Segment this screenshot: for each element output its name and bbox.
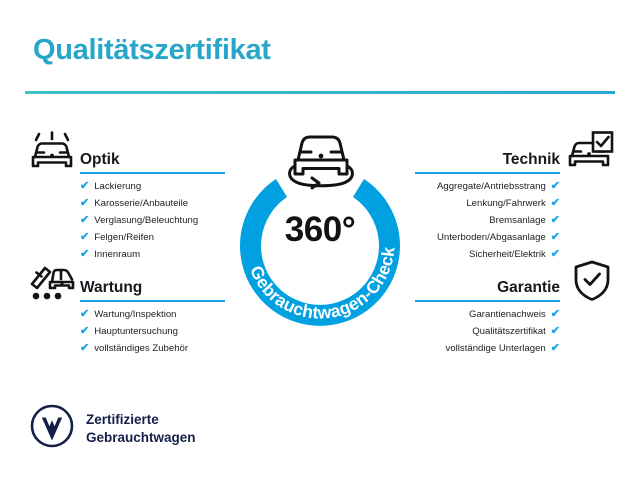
list-item-label: Karosserie/Anbauteile	[94, 199, 188, 209]
list-item-label: Aggregate/Antriebsstrang	[437, 182, 546, 192]
check-icon: ✔	[551, 198, 560, 209]
list-item-label: vollständige Unterlagen	[446, 344, 546, 354]
section-optik: Optik ✔ Lackierung ✔ Karosserie/Anbautei…	[80, 144, 225, 266]
check-icon: ✔	[551, 181, 560, 192]
list-item: vollständige Unterlagen ✔	[415, 343, 560, 354]
list-item-label: vollständiges Zubehör	[94, 344, 188, 354]
car-checkbox-icon	[566, 131, 614, 178]
check-icon: ✔	[80, 181, 89, 192]
list-item-label: Felgen/Reifen	[94, 233, 154, 243]
check-icon: ✔	[80, 232, 89, 243]
section-optik-items: ✔ Lackierung ✔ Karosserie/Anbauteile ✔ V…	[80, 181, 225, 260]
section-wartung: Wartung ✔ Wartung/Inspektion ✔ Hauptunte…	[80, 272, 225, 360]
list-item-label: Sicherheit/Elektrik	[469, 250, 546, 260]
page-title: Qualitätszertifikat	[33, 34, 271, 67]
car-rotate-360-icon	[282, 122, 360, 201]
list-item-label: Garantienachweis	[469, 310, 546, 320]
list-item-label: Innenraum	[94, 250, 140, 260]
footer-logo-line1: Zertifizierte	[86, 412, 159, 427]
list-item: Garantienachweis ✔	[415, 309, 560, 320]
check-icon: ✔	[80, 198, 89, 209]
section-optik-title: Optik	[80, 151, 120, 169]
list-item-label: Lenkung/Fahrwerk	[466, 199, 545, 209]
list-item: Aggregate/Antriebsstrang ✔	[415, 181, 560, 192]
section-garantie: Garantie Garantienachweis ✔ Qualitätszer…	[415, 272, 560, 360]
vw-roundel-icon	[30, 404, 74, 453]
shield-check-icon	[572, 260, 612, 307]
check-icon: ✔	[80, 343, 89, 354]
certificate-page: Qualitätszertifikat Optik ✔	[0, 0, 640, 480]
check-icon: ✔	[80, 326, 89, 337]
section-wartung-divider	[80, 300, 225, 302]
check-icon: ✔	[551, 343, 560, 354]
section-technik-items: Aggregate/Antriebsstrang ✔ Lenkung/Fahrw…	[415, 181, 560, 260]
list-item-label: Verglasung/Beleuchtung	[94, 216, 198, 226]
car-shine-icon	[28, 131, 76, 178]
list-item: Lenkung/Fahrwerk ✔	[415, 198, 560, 209]
list-item-label: Wartung/Inspektion	[94, 310, 176, 320]
check-icon: ✔	[80, 215, 89, 226]
list-item: ✔ Wartung/Inspektion	[80, 309, 225, 320]
check-icon: ✔	[551, 249, 560, 260]
badge-360-gebrauchtwagen-check: Gebrauchtwagen-Check 360°	[224, 148, 416, 340]
section-garantie-divider	[415, 300, 560, 302]
list-item: ✔ Verglasung/Beleuchtung	[80, 215, 225, 226]
check-icon: ✔	[551, 232, 560, 243]
section-optik-header: Optik	[80, 144, 225, 174]
list-item-label: Lackierung	[94, 182, 141, 192]
list-item: Qualitätszertifikat ✔	[415, 326, 560, 337]
footer-logo-text: ZertifizierteGebrauchtwagen	[86, 411, 196, 446]
list-item-label: Hauptuntersuchung	[94, 327, 178, 337]
title-divider	[25, 91, 615, 94]
section-garantie-header: Garantie	[415, 272, 560, 302]
car-tools-icon	[28, 260, 76, 307]
list-item: ✔ Hauptuntersuchung	[80, 326, 225, 337]
badge-center-value: 360°	[224, 210, 416, 250]
section-wartung-title: Wartung	[80, 279, 142, 297]
section-garantie-title: Garantie	[497, 279, 560, 297]
section-technik: Technik Aggregate/Antriebsstrang ✔ Lenku…	[415, 144, 560, 266]
list-item: Unterboden/Abgasanlage ✔	[415, 232, 560, 243]
section-optik-divider	[80, 172, 225, 174]
list-item: ✔ Karosserie/Anbauteile	[80, 198, 225, 209]
list-item: ✔ vollständiges Zubehör	[80, 343, 225, 354]
list-item-label: Unterboden/Abgasanlage	[437, 233, 546, 243]
list-item: Bremsanlage ✔	[415, 215, 560, 226]
check-icon: ✔	[551, 326, 560, 337]
footer-logo-line2: Gebrauchtwagen	[86, 430, 196, 445]
section-wartung-items: ✔ Wartung/Inspektion ✔ Hauptuntersuchung…	[80, 309, 225, 354]
check-icon: ✔	[80, 309, 89, 320]
footer-logo: ZertifizierteGebrauchtwagen	[30, 404, 196, 453]
list-item: ✔ Innenraum	[80, 249, 225, 260]
section-technik-title: Technik	[503, 151, 560, 169]
list-item: Sicherheit/Elektrik ✔	[415, 249, 560, 260]
check-icon: ✔	[551, 309, 560, 320]
section-garantie-items: Garantienachweis ✔ Qualitätszertifikat ✔…	[415, 309, 560, 354]
section-wartung-header: Wartung	[80, 272, 225, 302]
list-item: ✔ Felgen/Reifen	[80, 232, 225, 243]
section-technik-header: Technik	[415, 144, 560, 174]
list-item: ✔ Lackierung	[80, 181, 225, 192]
list-item-label: Qualitätszertifikat	[472, 327, 546, 337]
check-icon: ✔	[80, 249, 89, 260]
check-icon: ✔	[551, 215, 560, 226]
svg-text:Gebrauchtwagen-Check: Gebrauchtwagen-Check	[246, 246, 399, 323]
section-technik-divider	[415, 172, 560, 174]
list-item-label: Bremsanlage	[489, 216, 546, 226]
